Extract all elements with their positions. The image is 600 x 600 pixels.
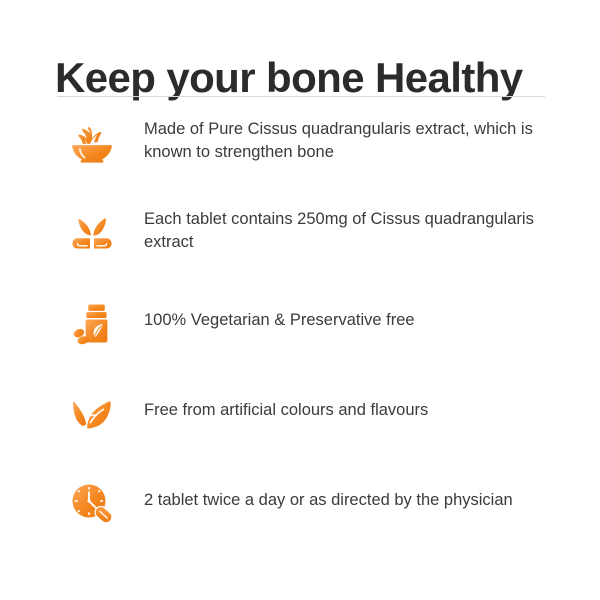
leaves-icon [57, 384, 127, 444]
product-benefits-panel: Keep your bone Healthy [0, 0, 600, 600]
page-title: Keep your bone Healthy [55, 54, 523, 101]
feature-row: 100% Vegetarian & Preservative free [0, 292, 600, 382]
feature-row: 2 tablet twice a day or as directed by t… [0, 472, 600, 562]
feature-row: Made of Pure Cissus quadrangularis extra… [0, 112, 600, 202]
capsule-with-leaves-icon [57, 204, 127, 264]
supplement-bottle-with-leaf-icon [57, 294, 127, 354]
clock-with-capsule-icon [57, 474, 127, 534]
feature-row: Each tablet contains 250mg of Cissus qua… [0, 202, 600, 292]
feature-text: 2 tablet twice a day or as directed by t… [127, 472, 600, 512]
feature-text: Free from artificial colours and flavour… [127, 382, 600, 422]
title-divider [57, 96, 545, 97]
feature-text: Each tablet contains 250mg of Cissus qua… [127, 202, 600, 255]
mortar-and-pestle-with-leaves-icon [57, 114, 127, 174]
feature-text: Made of Pure Cissus quadrangularis extra… [127, 112, 600, 165]
feature-text: 100% Vegetarian & Preservative free [127, 292, 600, 332]
feature-row: Free from artificial colours and flavour… [0, 382, 600, 472]
feature-list: Made of Pure Cissus quadrangularis extra… [0, 112, 600, 562]
